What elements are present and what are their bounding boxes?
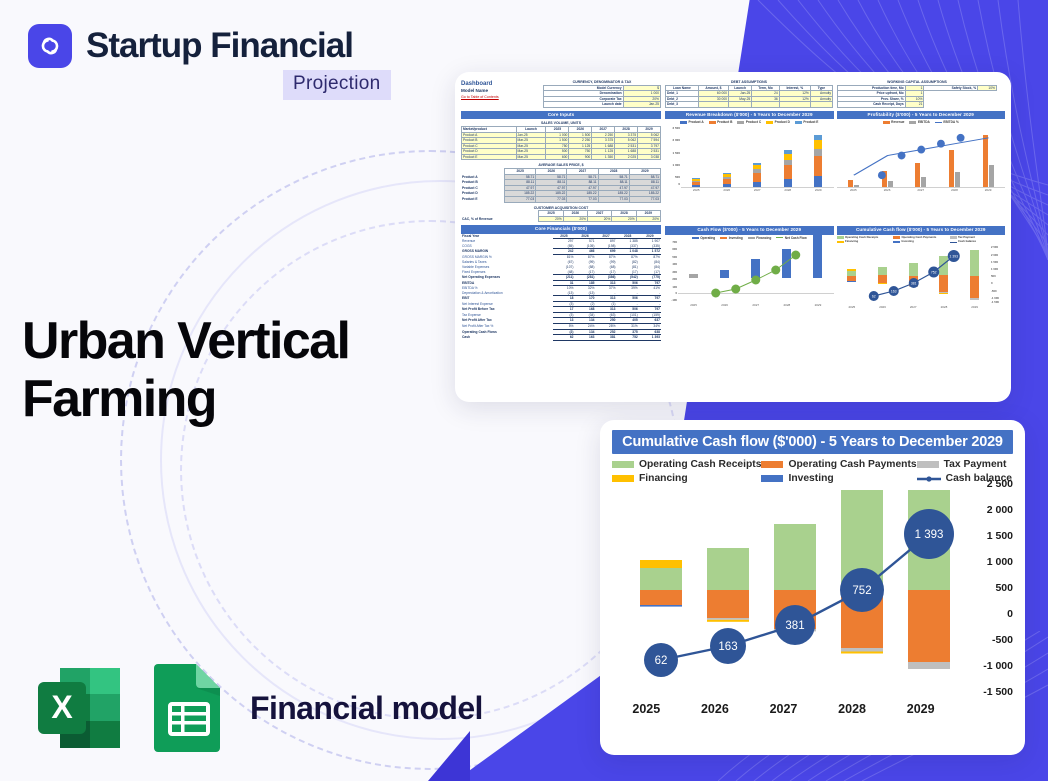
dashboard-title: Dashboard (461, 80, 539, 88)
legend-label: Investing (788, 473, 833, 484)
legend-item: Operating (692, 236, 716, 240)
legend-label: Operating (700, 236, 715, 240)
legend-label: Financing (845, 240, 858, 244)
core-financials-table[interactable]: Fiscal Year 2025 2026 2027 2028 2029 Rev… (461, 234, 661, 341)
cac-cell[interactable]: 20% (539, 216, 563, 222)
table-row: Cash621633817521 393 (461, 335, 661, 341)
revenue-breakdown-xaxis: 2025 2026 2027 2028 2029 (665, 188, 834, 192)
legend-swatch-icon (761, 461, 783, 468)
microsoft-excel-icon: X (32, 660, 128, 756)
legend-swatch-icon (893, 241, 900, 243)
x-tick: 2026 (681, 702, 750, 716)
x-tick: 2028 (818, 702, 887, 716)
x-tick: 2025 (690, 303, 697, 307)
cac-cell[interactable]: 20% (612, 216, 636, 222)
x-tick: 2027 (752, 303, 759, 307)
legend-item: EBITDA % (935, 120, 959, 124)
chart-x-axis: 2025 2026 2027 2028 2029 (612, 702, 955, 716)
cf-cell[interactable]: 1 393 (639, 335, 661, 341)
legend-item: Financing (837, 240, 893, 244)
legend-item-operating-cash-receipts: Operating Cash Receipts (612, 459, 761, 470)
cac-cell[interactable]: 20% (563, 216, 587, 222)
legend-label: Cash balance (958, 240, 976, 244)
x-tick: 2027 (910, 305, 917, 309)
svg-text:1 393: 1 393 (949, 255, 958, 259)
cumulative-cash-flow-xaxis: 2025 2026 2027 2028 2029 (837, 305, 1006, 309)
svg-text:X: X (51, 689, 73, 725)
legend-swatch-icon (748, 237, 755, 239)
brand-logo: Startup Financial Projection (28, 24, 391, 100)
table-row: Product EMar-256009001 3502 0253 038 (462, 154, 661, 160)
legend-item: Investing (720, 236, 743, 240)
legend-item: Cash balance (950, 240, 1006, 244)
profitability-xaxis: 2025 2026 2027 2028 2029 (837, 188, 1006, 192)
core-financials-header: Core Financials ($'000) (461, 225, 661, 233)
profitability-title: Profitability ($'000) - 5 Years to Decem… (837, 111, 1006, 119)
table-row: Launch dateJan-25 (544, 102, 661, 108)
mini-chart-cumulative-cash-flow[interactable]: Cumulative Cash flow ($'000) - 5 Years t… (837, 226, 1006, 340)
legend-label: Product E (803, 120, 818, 124)
format-label: Financial model (250, 690, 483, 727)
table-row: Cash Receipt, Days 21 (838, 102, 997, 108)
debt-cell[interactable] (779, 102, 810, 108)
bar (814, 135, 822, 187)
legend-label: Revenue (891, 120, 904, 124)
legend-label: Operating Cash Receipts (639, 459, 761, 470)
bar (723, 173, 731, 187)
cf-row-label: Cash (461, 335, 553, 341)
x-tick: 2029 (985, 188, 992, 192)
x-tick: 2029 (815, 188, 822, 192)
legend-label: Financing (756, 236, 771, 240)
x-tick: 2027 (754, 188, 761, 192)
sales-volume-table[interactable]: Market/product Launch 2025 2026 2027 202… (461, 126, 661, 160)
data-label: 1 393 (915, 529, 944, 541)
svg-text:62: 62 (871, 295, 875, 299)
legend-label: Product D (775, 120, 790, 124)
profitability-markers (837, 126, 1006, 187)
debt-cell[interactable] (729, 102, 752, 108)
data-label: 163 (718, 641, 737, 653)
legend-label: Investing (729, 236, 743, 240)
legend-label: Net Cash Flow (785, 236, 807, 240)
data-label: 62 (655, 655, 668, 667)
bar-series-2026 (707, 548, 749, 622)
spreadsheet-dashboard: Dashboard Model Name Go to Table of Cont… (461, 80, 1005, 394)
google-sheets-icon (150, 660, 228, 756)
sv-cell[interactable]: 2 025 (615, 154, 638, 160)
ap-cell[interactable]: 77.03 (536, 197, 567, 203)
legend-swatch-icon (766, 121, 773, 123)
wc-value[interactable]: 21 (905, 102, 924, 108)
x-tick: 2028 (951, 188, 958, 192)
chart-y-axis: 2 500 2 000 1 500 1 000 500 0 -500 -1 00… (963, 490, 1013, 690)
cf-cell[interactable]: 62 (553, 335, 574, 341)
x-tick: 2027 (917, 188, 924, 192)
chart-legend: Operating Cash Receipts Operating Cash P… (612, 459, 1013, 484)
dashboard-toc-link[interactable]: Go to Table of Contents (461, 95, 539, 100)
cf-cell[interactable]: 381 (596, 335, 617, 341)
legend-line-icon (917, 475, 941, 483)
cash-flow-yaxis: 700 600 500 400 300 200 100 0 -100 (665, 241, 678, 303)
ap-label: Product E (461, 197, 505, 203)
sv-cell[interactable]: Product E (462, 154, 517, 160)
brand-badge: Projection (283, 70, 391, 100)
y-tick: -1 500 (983, 686, 1013, 698)
core-financials-body: Revenue2975718971 3851 907COGS(55)(105)(… (461, 239, 661, 340)
legend-label: Financing (639, 473, 688, 484)
chart-plot-area: 62 163 381 752 1 393 2 500 2 000 1 500 1… (612, 490, 1013, 690)
x-tick: 2026 (721, 303, 728, 307)
svg-text:381: 381 (910, 282, 916, 286)
x-tick: 2025 (612, 702, 681, 716)
legend-swatch-icon (795, 121, 802, 123)
y-tick: -500 (992, 634, 1013, 646)
legend-label: Product C (746, 120, 761, 124)
brand-name: Startup Financial (86, 26, 353, 66)
chart-title: Cumulative Cash flow ($'000) - 5 Years t… (612, 430, 1013, 454)
x-tick: 2029 (971, 305, 978, 309)
cumulative-cash-flow-legend: Operating Cash Receipts Operating Cash P… (837, 235, 1006, 246)
legend-line-icon (950, 242, 957, 243)
legend-line-icon (935, 122, 942, 123)
sv-cell[interactable]: 900 (569, 154, 592, 160)
x-tick: 2028 (941, 305, 948, 309)
format-badges: X Financial model (32, 660, 483, 756)
x-tick: 2025 (850, 188, 857, 192)
brand-logo-row: Startup Financial (28, 24, 391, 68)
dashboard-screenshot-card[interactable]: Dashboard Model Name Go to Table of Cont… (455, 72, 1011, 402)
average-price-table[interactable]: 2025 2026 2027 2028 2029 Product A58.715… (461, 168, 661, 202)
legend-swatch-icon (692, 237, 699, 239)
legend-item: Investing (893, 240, 949, 244)
legend-label: EBITDA (918, 120, 930, 124)
x-tick: 2029 (886, 702, 955, 716)
debt-cell[interactable]: Debt_3 (666, 102, 699, 108)
bar-series-2025 (640, 560, 682, 607)
table-row: CAC, % of Revenue 20% 20% 20% 20% 20% (461, 216, 661, 222)
core-inputs-header: Core Inputs (461, 111, 661, 119)
bar (692, 178, 700, 187)
x-tick: 2028 (784, 188, 791, 192)
ap-cell[interactable]: 77.03 (567, 197, 598, 203)
wc-label: Cash Receipt, Days (838, 102, 906, 108)
legend-swatch-icon (883, 121, 890, 123)
cumulative-cash-flow-title: Cumulative Cash flow ($'000) - 5 Years t… (837, 226, 1006, 234)
legend-swatch-icon (709, 121, 716, 123)
debt-cell[interactable] (698, 102, 728, 108)
y-tick: 1 500 (987, 530, 1013, 542)
bar (784, 150, 792, 187)
legend-item-investing: Investing (761, 473, 916, 484)
cumulative-cash-flow-yaxis: 2 500 2 000 1 500 1 000 500 0 -500 -1 00… (990, 245, 1005, 305)
legend-item-operating-cash-payments: Operating Cash Payments (761, 459, 916, 470)
y-tick: -1 000 (983, 660, 1013, 672)
cash-flow-xaxis: 2025 2026 2027 2028 2029 (665, 303, 834, 307)
x-tick: 2026 (884, 188, 891, 192)
page-title: Urban Vertical Farming (22, 312, 462, 428)
revenue-breakdown-yaxis: 2 500 2 000 1 500 1 000 500 0 (665, 126, 681, 188)
cash-flow-net-line (678, 241, 834, 303)
y-tick: 500 (995, 582, 1013, 594)
legend-label: EBITDA % (943, 120, 958, 124)
legend-line-icon (776, 237, 783, 238)
legend-swatch-icon (837, 236, 844, 238)
legend-swatch-icon (950, 236, 957, 238)
legend-item: Product A (680, 120, 704, 124)
cac-label: CAC, % of Revenue (461, 216, 539, 222)
revenue-breakdown-title: Revenue Breakdown ($'000) - 5 Years to D… (665, 111, 834, 119)
y-tick: 1 000 (987, 556, 1013, 568)
mini-chart-profitability[interactable]: Profitability ($'000) - 5 Years to Decem… (837, 111, 1006, 223)
legend-swatch-icon (893, 236, 900, 238)
ap-cell[interactable]: 77.03 (505, 197, 536, 203)
cf-cell[interactable]: 163 (574, 335, 595, 341)
y-tick: 2 500 (987, 478, 1013, 490)
cash-flow-title: Cash Flow ($'000) - 5 Years to December … (665, 226, 834, 234)
debt-table[interactable]: Loan Name Amount, $ Launch Term, Mo Inte… (665, 85, 833, 108)
legend-swatch-icon (837, 241, 844, 243)
table-row: Debt_3 (666, 102, 833, 108)
legend-swatch-icon (612, 475, 634, 482)
legend-item: Revenue (883, 120, 905, 124)
currency-row-value[interactable]: Jan-25 (623, 102, 660, 108)
legend-swatch-icon (737, 121, 744, 123)
working-capital-table[interactable]: Production time, Mo 1 Safety Stock, % 10… (837, 85, 997, 108)
legend-item: Product B (709, 120, 733, 124)
legend-label: Product A (689, 120, 704, 124)
x-tick: 2028 (783, 303, 790, 307)
ap-cell[interactable]: 77.03 (629, 197, 660, 203)
legend-item: EBITDA (909, 120, 929, 124)
legend-label: Tax Payment (944, 459, 1007, 470)
cf-cell[interactable]: 752 (617, 335, 639, 341)
x-tick: 2026 (879, 305, 886, 309)
legend-swatch-icon (680, 121, 687, 123)
sv-cell[interactable]: 1 350 (592, 154, 615, 160)
currency-table[interactable]: Model Currency$ Denomination1 000 Corpor… (543, 85, 661, 108)
x-tick: 2026 (723, 188, 730, 192)
data-label: 381 (785, 620, 804, 632)
table-row: Product E77.0377.0377.0377.0377.03 (461, 197, 661, 203)
x-tick: 2025 (849, 305, 856, 309)
bar (753, 163, 761, 187)
ap-cell[interactable]: 77.03 (598, 197, 629, 203)
currency-row-label: Launch date (544, 102, 624, 108)
legend-item-financing: Financing (612, 473, 761, 484)
sv-cell[interactable]: 3 038 (638, 154, 661, 160)
legend-item-tax-payment: Tax Payment (917, 459, 1013, 470)
cac-cell[interactable]: 20% (636, 216, 660, 222)
y-tick: 2 000 (987, 504, 1013, 516)
legend-swatch-icon (909, 121, 916, 123)
x-tick: 2025 (693, 188, 700, 192)
x-tick: 2027 (749, 702, 818, 716)
legend-label: Investing (902, 240, 914, 244)
svg-text:752: 752 (930, 271, 936, 275)
sv-cell[interactable]: Mar-25 (516, 154, 546, 160)
cac-cell[interactable]: 20% (588, 216, 612, 222)
mini-chart-cash-flow[interactable]: Cash Flow ($'000) - 5 Years to December … (665, 226, 834, 340)
x-tick: 2029 (815, 303, 822, 307)
legend-swatch-icon (612, 461, 634, 468)
sv-cell[interactable]: 600 (546, 154, 569, 160)
chart-svg: 62 163 381 752 1 393 (612, 490, 955, 690)
legend-item: Net Cash Flow (776, 236, 806, 240)
y-tick: 0 (1007, 608, 1013, 620)
cac-table[interactable]: 2025 2026 2027 2028 2029 CAC, % of Reven… (461, 210, 661, 222)
legend-swatch-icon (720, 237, 727, 239)
e-mark-icon (28, 24, 72, 68)
legend-item: Product D (766, 120, 790, 124)
mini-chart-revenue-breakdown[interactable]: Revenue Breakdown ($'000) - 5 Years to D… (665, 111, 834, 223)
legend-label: Product B (717, 120, 732, 124)
legend-swatch-icon (917, 461, 939, 468)
data-label: 752 (852, 585, 871, 597)
legend-item: Product E (795, 120, 819, 124)
debt-cell[interactable] (810, 102, 832, 108)
cumulative-cash-flow-chart-card[interactable]: Cumulative Cash flow ($'000) - 5 Years t… (600, 420, 1025, 755)
debt-cell[interactable] (752, 102, 780, 108)
legend-item: Financing (748, 236, 772, 240)
svg-text:163: 163 (890, 290, 896, 294)
legend-item: Product C (737, 120, 761, 124)
legend-label: Operating Cash Payments (788, 459, 916, 470)
cumulative-cash-balance-line: 62163381 7521 393 (837, 245, 991, 305)
legend-swatch-icon (761, 475, 783, 482)
